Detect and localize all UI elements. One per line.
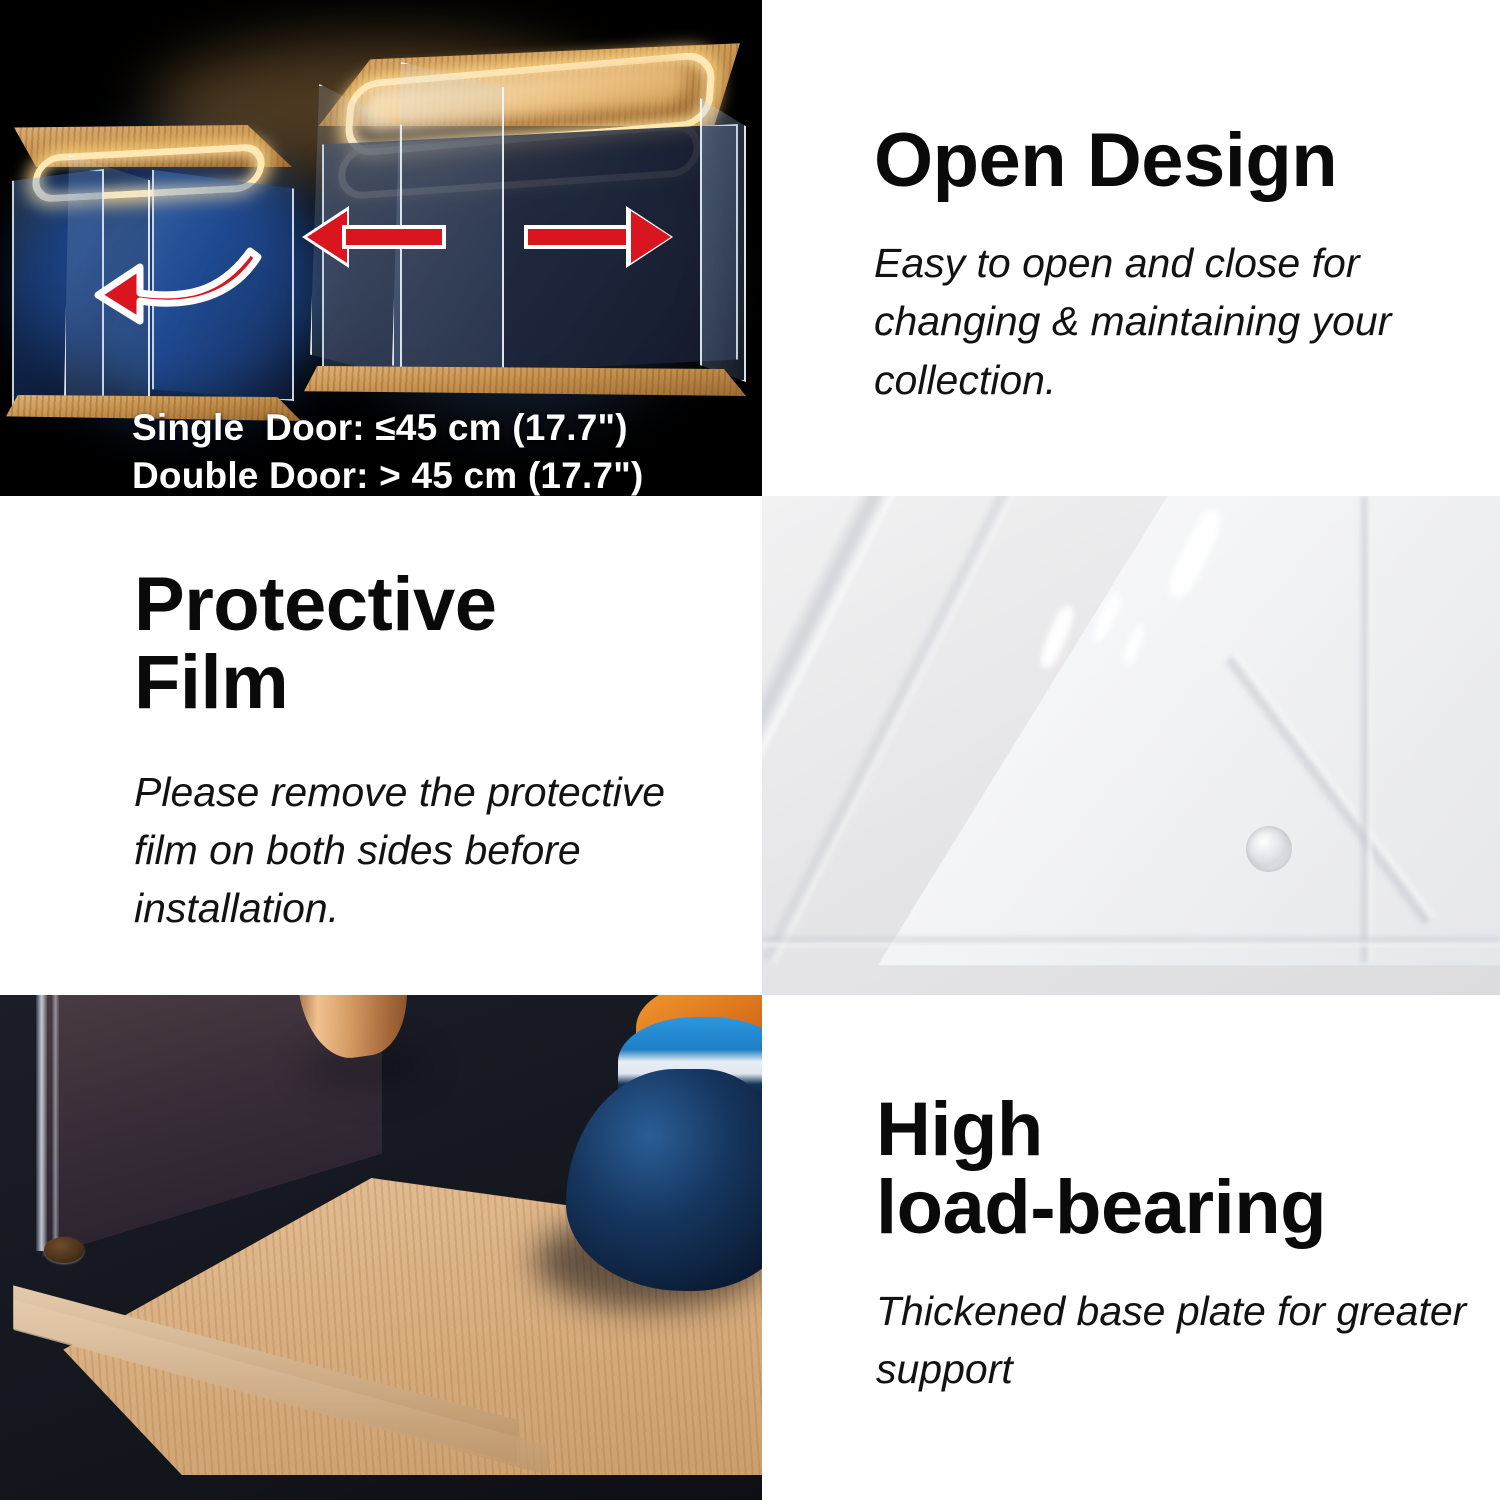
panel-open-design: Open Design Easy to open and close for c…	[762, 0, 1500, 496]
door-spec-line-single: Single Door: ≤45 cm (17.7")	[132, 404, 628, 451]
base-peg-hole	[44, 1237, 84, 1263]
case2-base-wood	[304, 366, 746, 396]
double-door-case	[300, 28, 752, 396]
high-load-body: Thickened base plate for greater support	[876, 1282, 1476, 1398]
infographic-sheet: Single Door: ≤45 cm (17.7") Double Door:…	[0, 0, 1500, 1500]
double-door-arrow-left	[302, 206, 442, 268]
photo-door-comparison: Single Door: ≤45 cm (17.7") Double Door:…	[0, 0, 762, 496]
base-photo-backdrop	[0, 995, 762, 1500]
panel-high-load-bearing: High load-bearing Thickened base plate f…	[762, 995, 1500, 1500]
acrylic-side-edge	[36, 995, 47, 1251]
high-load-heading: High load-bearing	[876, 1091, 1476, 1248]
film-edge-right	[1358, 496, 1372, 962]
protective-film-heading-line2: Film	[134, 640, 288, 725]
double-door-arrow-right	[528, 206, 676, 268]
protective-film-body: Please remove the protective film on bot…	[134, 763, 694, 938]
panel-protective-film: Protective Film Please remove the protec…	[0, 496, 762, 995]
door-spec-line-double: Double Door: > 45 cm (17.7")	[132, 452, 643, 496]
photo-black-backdrop: Single Door: ≤45 cm (17.7") Double Door:…	[0, 0, 762, 496]
protective-film-heading: Protective Film	[134, 566, 694, 723]
figure-boot	[566, 1069, 762, 1291]
single-door-case	[6, 125, 306, 395]
protective-film-heading-line1: Protective	[134, 562, 497, 647]
door-swing-arrow-curved	[92, 233, 262, 328]
case2-side-panel	[700, 98, 746, 382]
high-load-heading-line2: load-bearing	[876, 1165, 1326, 1250]
acrylic-front-edge	[52, 995, 59, 1241]
photo-base-plate	[0, 995, 762, 1500]
film-photo-backdrop	[762, 496, 1500, 995]
film-edge-bottom	[762, 934, 1500, 946]
high-load-heading-line1: High	[876, 1087, 1043, 1172]
film-sheet-main	[822, 496, 1500, 986]
open-design-body: Easy to open and close for changing & ma…	[874, 234, 1414, 409]
open-design-heading: Open Design	[874, 122, 1414, 200]
film-dimple-hole	[1246, 826, 1292, 872]
photo-protective-film	[762, 496, 1500, 995]
